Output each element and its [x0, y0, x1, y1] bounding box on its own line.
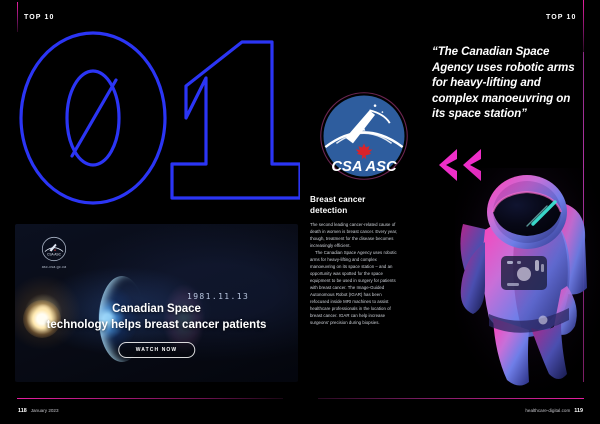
kicker-top10-left: TOP 10	[24, 14, 54, 21]
article-heading-line2: detection	[310, 206, 347, 215]
footer-rule-left	[17, 398, 283, 399]
footer-rule-right	[318, 398, 584, 399]
watch-now-button[interactable]: WATCH NOW	[118, 342, 195, 358]
csa-watermark-url: asc-csa.gc.ca	[31, 265, 77, 269]
kicker-top10-right: TOP 10	[546, 14, 576, 21]
issue-date: January 2023	[31, 408, 59, 413]
video-card[interactable]: CSA ASC asc-csa.gc.ca 1981.11.13 Canadia…	[15, 224, 298, 382]
footer-left: 118January 2023	[18, 408, 59, 414]
video-title-line2: technology helps breast cancer patients	[47, 319, 267, 331]
page-number-left: 118	[18, 408, 27, 414]
article-heading-line1: Breast cancer	[310, 195, 365, 204]
page-number-right: 119	[574, 408, 583, 414]
svg-text:CSA ASC: CSA ASC	[47, 253, 62, 257]
video-title: Canadian Space technology helps breast c…	[15, 302, 298, 333]
article-heading: Breast cancer detection	[310, 194, 406, 216]
csa-watermark-logo: CSA ASC asc-csa.gc.ca	[31, 236, 77, 269]
footer-right: healthcare-digital.com119	[525, 408, 583, 414]
rank-numeral-01	[10, 26, 300, 211]
astronaut-photo	[455, 168, 600, 403]
video-title-line1: Canadian Space	[112, 303, 201, 315]
video-date-overlay: 1981.11.13	[187, 292, 249, 301]
pull-quote: “The Canadian Space Agency uses robotic …	[432, 44, 584, 122]
article-paragraph: The Canadian Space Agency uses robotic a…	[310, 249, 402, 326]
csa-logo-text: CSA ASC	[331, 159, 397, 175]
site-url: healthcare-digital.com	[525, 408, 570, 413]
article-paragraph: The second leading cancer-related cause …	[310, 221, 402, 249]
article-body: The second leading cancer-related cause …	[310, 221, 402, 326]
left-page: TOP 10	[0, 0, 300, 424]
csa-asc-logo: CSA ASC	[318, 90, 410, 182]
